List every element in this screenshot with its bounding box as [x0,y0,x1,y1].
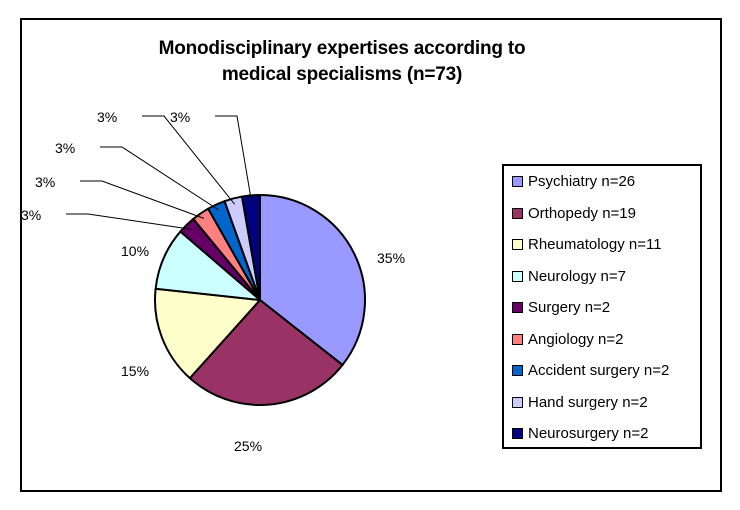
pie-percent-label: 35% [377,250,405,266]
legend-color-swatch-icon [512,208,523,219]
legend-color-swatch-icon [512,428,523,439]
legend-item-label: Psychiatry n=26 [528,174,635,189]
legend-item-label: Hand surgery n=2 [528,395,648,410]
pie-percent-label: 10% [121,243,149,259]
pie-percent-label: 3% [21,207,41,223]
pie-percent-label: 3% [97,109,117,125]
legend-item-label: Rheumatology n=11 [528,237,662,252]
pie-label-leader-line [142,116,235,204]
legend-item[interactable]: Hand surgery n=2 [504,387,700,419]
legend-color-swatch-icon [512,397,523,408]
pie-label-leader-line [215,116,252,201]
chart-legend: Psychiatry n=26Orthopedy n=19Rheumatolog… [502,164,702,449]
pie-percent-label: 3% [35,174,55,190]
legend-item[interactable]: Angiology n=2 [504,324,700,356]
legend-item[interactable]: Neurology n=7 [504,261,700,293]
legend-item[interactable]: Orthopedy n=19 [504,198,700,230]
legend-item[interactable]: Accident surgery n=2 [504,355,700,387]
pie-percent-label: 3% [55,140,75,156]
legend-item-label: Neurosurgery n=2 [528,426,648,441]
pie-label-leader-line [66,214,191,229]
legend-color-swatch-icon [512,365,523,376]
legend-item-label: Neurology n=7 [528,269,626,284]
pie-label-leader-line [100,147,219,210]
legend-item[interactable]: Surgery n=2 [504,292,700,324]
legend-item-label: Angiology n=2 [528,332,624,347]
pie-percent-label: 15% [121,363,149,379]
legend-item[interactable]: Rheumatology n=11 [504,229,700,261]
chart-frame: Monodisciplinary expertises according to… [20,18,722,492]
legend-item-label: Surgery n=2 [528,300,610,315]
legend-item-label: Accident surgery n=2 [528,363,669,378]
legend-item[interactable]: Psychiatry n=26 [504,166,700,198]
legend-color-swatch-icon [512,239,523,250]
pie-percent-label: 25% [234,438,262,454]
pie-label-leader-line [80,181,204,218]
legend-color-swatch-icon [512,271,523,282]
legend-color-swatch-icon [512,334,523,345]
legend-color-swatch-icon [512,302,523,313]
legend-color-swatch-icon [512,176,523,187]
legend-item-label: Orthopedy n=19 [528,206,636,221]
legend-item[interactable]: Neurosurgery n=2 [504,418,700,450]
pie-percent-label: 3% [170,109,190,125]
